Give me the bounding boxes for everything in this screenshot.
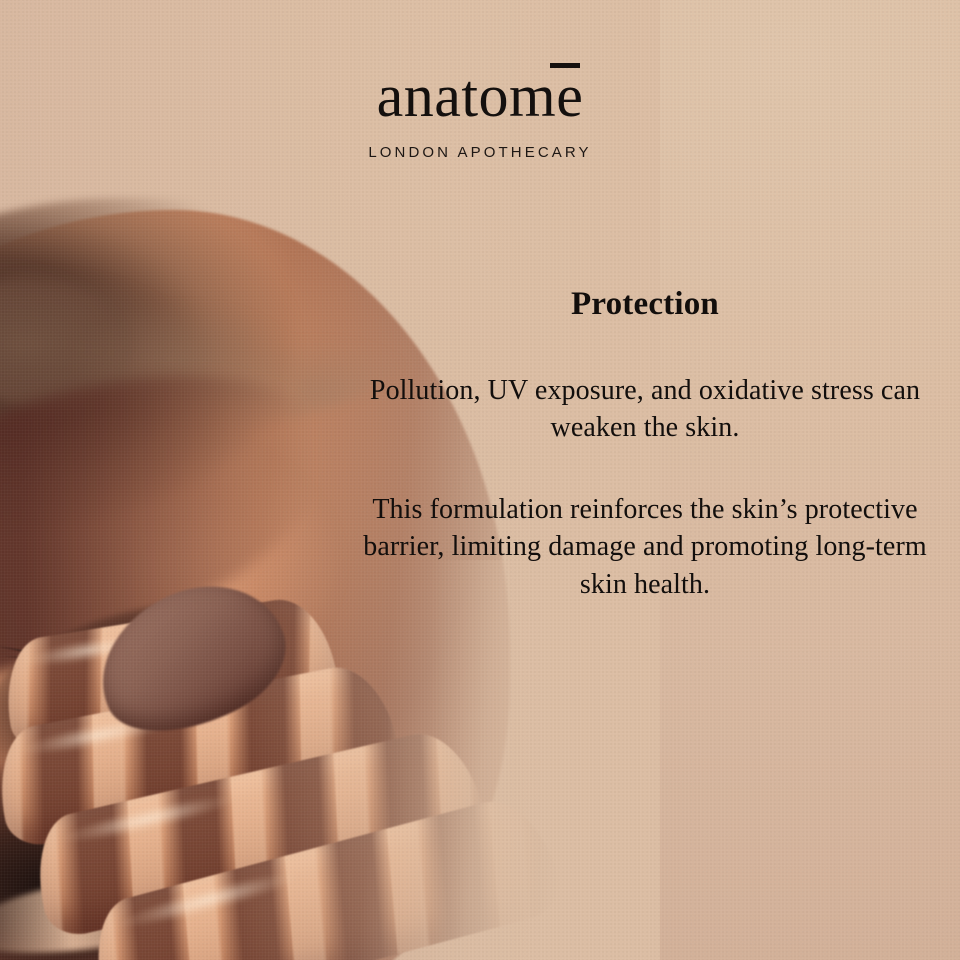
macron-icon: [550, 63, 580, 68]
brand-logo: anatome LONDON APOTHECARY: [0, 66, 960, 161]
brand-tagline: LONDON APOTHECARY: [0, 144, 960, 161]
copy-heading: Protection: [342, 286, 948, 324]
copy-block: Protection Pollution, UV exposure, and o…: [342, 286, 948, 604]
ad-creative-canvas: anatome LONDON APOTHECARY Protection Pol…: [0, 0, 960, 960]
brand-wordmark: anatome: [377, 66, 584, 126]
brand-wordmark-text: anatom: [377, 63, 557, 129]
copy-paragraph-2: This formulation reinforces the skin’s p…: [342, 491, 948, 604]
copy-paragraph-1: Pollution, UV exposure, and oxidative st…: [342, 372, 948, 447]
brand-wordmark-final-letter: e: [556, 63, 583, 129]
